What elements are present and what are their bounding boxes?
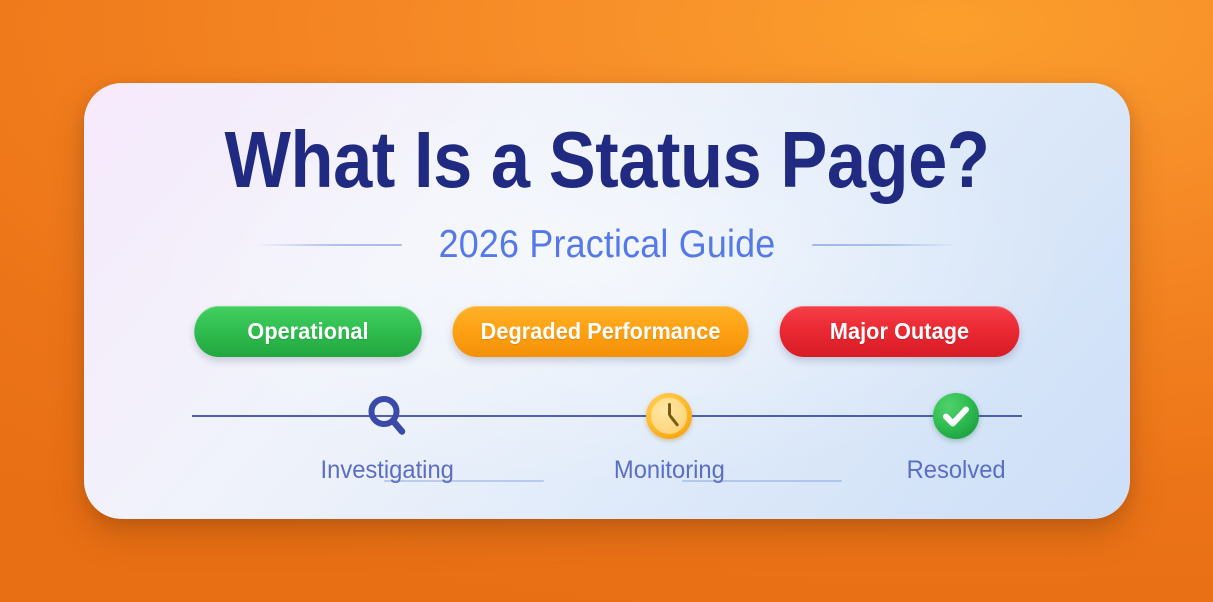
clock-icon: [641, 388, 697, 444]
timeline-stage-label-investigating: Investigating: [320, 456, 453, 485]
check-circle-icon: [928, 388, 984, 444]
status-badge-group: Operational Degraded Performance Major O…: [84, 306, 1130, 357]
timeline-stage-monitoring[interactable]: Monitoring: [599, 388, 739, 485]
subtitle-row: 2026 Practical Guide: [84, 223, 1130, 267]
timeline-stage-resolved[interactable]: Resolved: [886, 388, 1026, 485]
page-title: What Is a Status Page?: [147, 120, 1067, 200]
incident-timeline: Investigating Monitoring: [192, 388, 1022, 498]
status-badge-operational[interactable]: Operational: [194, 306, 421, 357]
timeline-stage-label-monitoring: Monitoring: [614, 456, 725, 485]
status-badge-major-outage[interactable]: Major Outage: [780, 306, 1020, 357]
status-badge-degraded-performance[interactable]: Degraded Performance: [452, 306, 748, 357]
subtitle-rule-left: [255, 244, 402, 246]
timeline-stage-label-resolved: Resolved: [906, 456, 1005, 485]
timeline-stage-investigating[interactable]: Investigating: [317, 388, 457, 485]
magnifying-glass-icon: [359, 388, 415, 444]
clock-hand-minute: [668, 414, 679, 427]
page-subtitle: 2026 Practical Guide: [439, 223, 776, 267]
subtitle-rule-right: [812, 244, 959, 246]
status-page-card: What Is a Status Page? 2026 Practical Gu…: [84, 83, 1130, 519]
